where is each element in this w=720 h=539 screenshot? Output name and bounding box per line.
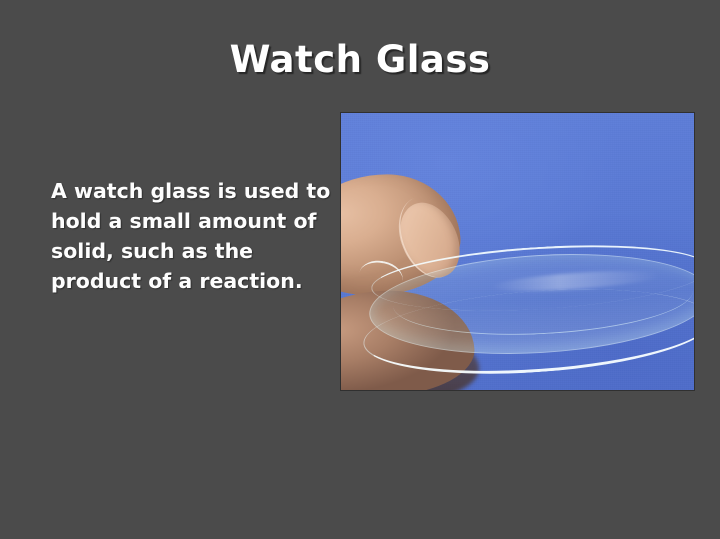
page-title: Watch Glass [0,38,720,81]
watch-glass-object [341,113,694,390]
presentation-slide: Watch Glass A watch glass is used to hol… [0,0,720,539]
body-line: solid, such as the [51,236,341,266]
slide-body-text: A watch glass is used to hold a small am… [51,176,341,296]
body-line: hold a small amount of [51,206,341,236]
watch-glass-photo [341,113,694,390]
body-line: A watch glass is used to [51,176,341,206]
body-line: product of a reaction. [51,266,341,296]
